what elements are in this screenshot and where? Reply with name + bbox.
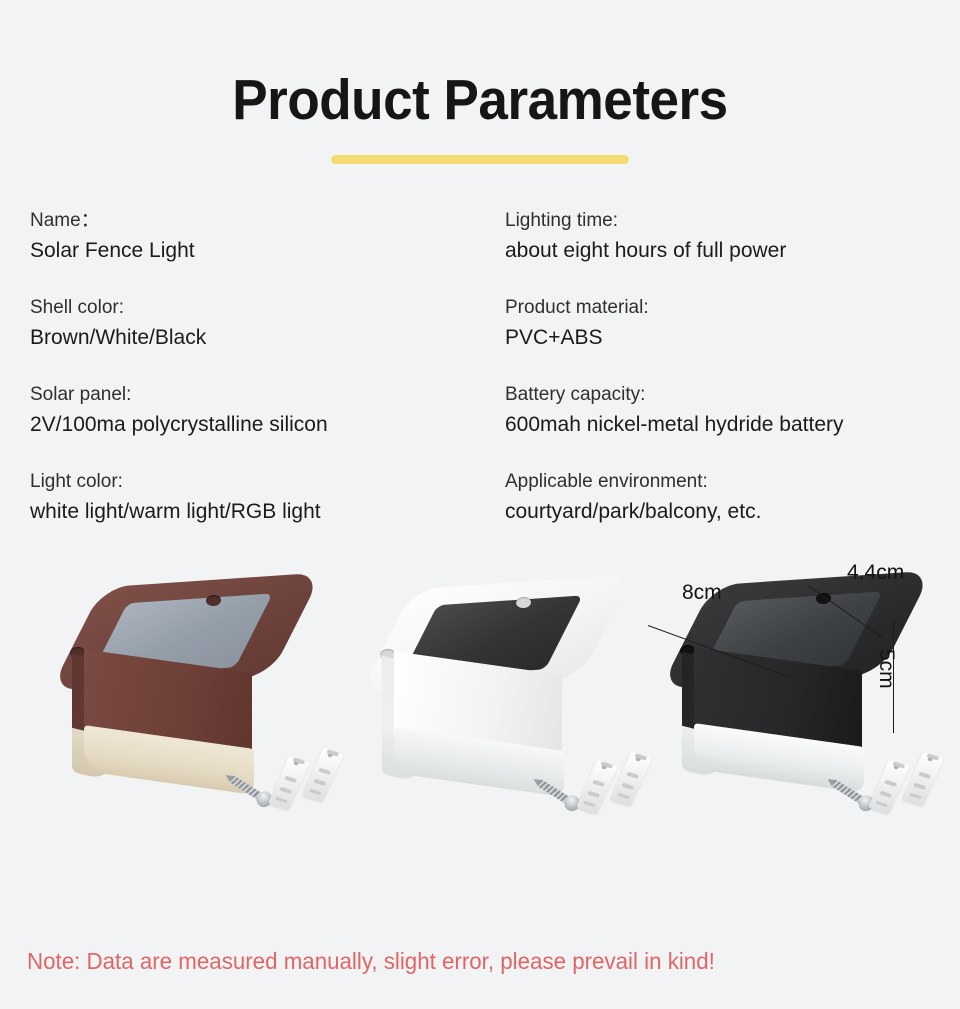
- spec-label: Shell color:: [30, 293, 503, 322]
- dimension-label-depth: 4.4cm: [847, 561, 904, 585]
- mounting-bracket-icon: [302, 748, 344, 803]
- spec-value: 600mah nickel-metal hydride battery: [505, 409, 932, 442]
- spec-value: about eight hours of full power: [505, 235, 932, 268]
- spec-value: white light/warm light/RGB light: [30, 496, 503, 529]
- spec-label: Light color:: [30, 467, 503, 496]
- spec-value: 2V/100ma polycrystalline silicon: [30, 409, 503, 442]
- spec-value: PVC+ABS: [505, 322, 932, 355]
- disclaimer-note: Note: Data are measured manually, slight…: [27, 948, 715, 975]
- mounting-bracket-icon: [902, 752, 944, 807]
- spec-label: Solar panel:: [30, 380, 503, 409]
- spec-item-lighting-time: Lighting time: about eight hours of full…: [503, 206, 932, 268]
- spec-item-battery-capacity: Battery capacity: 600mah nickel-metal hy…: [503, 380, 932, 442]
- product-image-white: [340, 563, 640, 843]
- spec-value: Solar Fence Light: [30, 235, 503, 268]
- spec-label: Name：: [30, 206, 503, 235]
- product-image-row: 8cm 4.4cm 5cm: [0, 555, 960, 855]
- spec-label: Product material:: [505, 293, 932, 322]
- page-title: Product Parameters: [34, 72, 927, 129]
- spec-label: Applicable environment:: [505, 467, 932, 496]
- spec-label: Lighting time:: [505, 206, 932, 235]
- spec-value: courtyard/park/balcony, etc.: [505, 496, 932, 529]
- dimension-label-width: 8cm: [682, 581, 722, 605]
- spec-value: Brown/White/Black: [30, 322, 503, 355]
- lamp-body-white: [358, 589, 588, 799]
- title-underline-bar: [331, 155, 629, 164]
- spec-item-shell-color: Shell color: Brown/White/Black: [28, 293, 503, 355]
- lamp-body-brown: [48, 587, 278, 797]
- spec-item-applicable-environment: Applicable environment: courtyard/park/b…: [503, 467, 932, 529]
- product-image-brown: [30, 561, 330, 841]
- dimension-label-height: 5cm: [874, 649, 898, 689]
- product-image-black: 8cm 4.4cm 5cm: [640, 559, 940, 839]
- spec-label: Battery capacity:: [505, 380, 932, 409]
- title-block: Product Parameters: [0, 0, 960, 164]
- spec-item-product-material: Product material: PVC+ABS: [503, 293, 932, 355]
- spec-item-name: Name： Solar Fence Light: [28, 206, 503, 268]
- spec-item-light-color: Light color: white light/warm light/RGB …: [28, 467, 503, 529]
- spec-item-solar-panel: Solar panel: 2V/100ma polycrystalline si…: [28, 380, 503, 442]
- specification-grid: Name： Solar Fence Light Lighting time: a…: [0, 206, 960, 529]
